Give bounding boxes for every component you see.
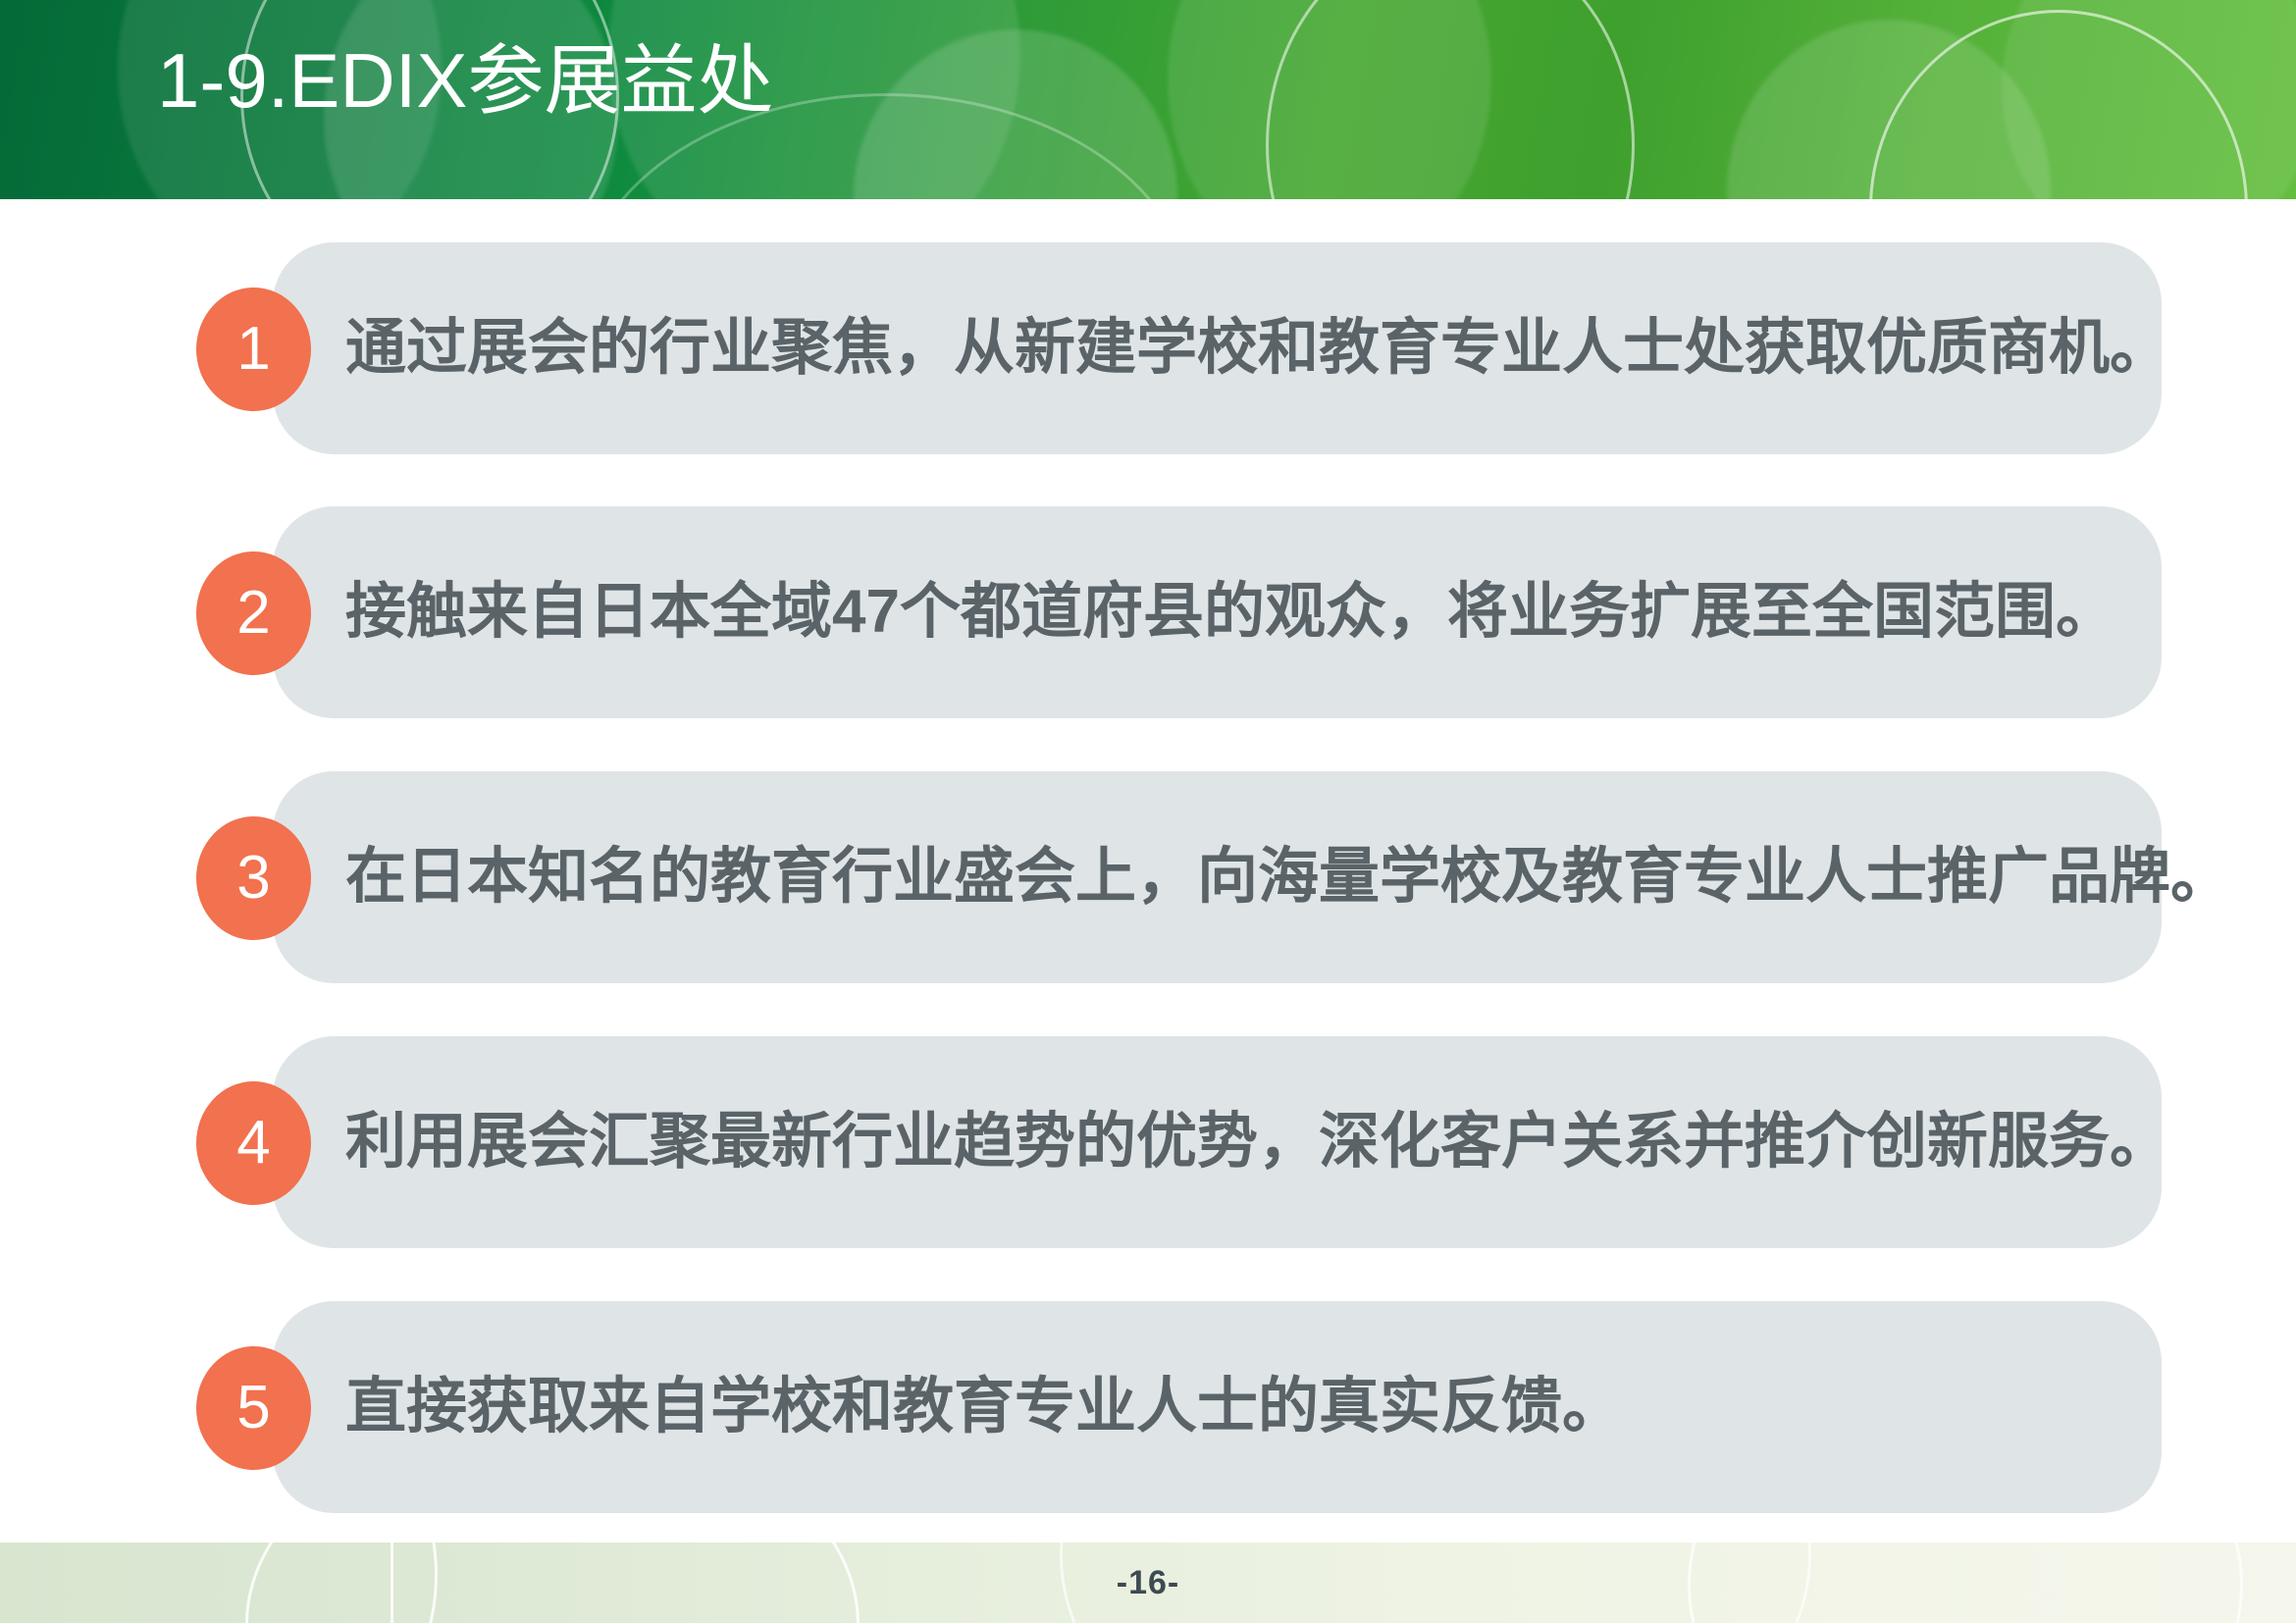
benefit-item: 3 在日本知名的教育行业盛会上，向海量学校及教育专业人士推广品牌。 (0, 771, 2296, 983)
benefit-item: 4 利用展会汇聚最新行业趋势的优势，深化客户关系并推介创新服务。 (0, 1036, 2296, 1248)
benefit-number-badge: 5 (196, 1346, 311, 1470)
slide-footer: -16- (0, 1543, 2296, 1623)
slide-body: 1 通过展会的行业聚焦，从新建学校和教育专业人士处获取优质商机。 2 接触来自日… (0, 199, 2296, 1543)
benefit-number-badge: 4 (196, 1081, 311, 1205)
benefit-item: 2 接触来自日本全域47个都道府县的观众，将业务扩展至全国范围。 (0, 506, 2296, 718)
header-decor-ring (1266, 0, 1635, 199)
benefit-text: 直接获取来自学校和教育专业人士的真实反馈。 (345, 1301, 2112, 1513)
benefit-text: 接触来自日本全域47个都道府县的观众，将业务扩展至全国范围。 (345, 506, 2112, 718)
benefit-item: 1 通过展会的行业聚焦，从新建学校和教育专业人士处获取优质商机。 (0, 242, 2296, 454)
benefit-number-badge: 1 (196, 288, 311, 411)
benefit-item: 5 直接获取来自学校和教育专业人士的真实反馈。 (0, 1301, 2296, 1513)
page-number: -16- (0, 1543, 2296, 1623)
slide-title: 1-9.EDIX参展益处 (157, 35, 773, 126)
benefit-text: 利用展会汇聚最新行业趋势的优势，深化客户关系并推介创新服务。 (345, 1036, 2112, 1248)
benefit-text: 在日本知名的教育行业盛会上，向海量学校及教育专业人士推广品牌。 (345, 771, 2112, 983)
benefit-text: 通过展会的行业聚焦，从新建学校和教育专业人士处获取优质商机。 (345, 242, 2112, 454)
benefit-number-badge: 3 (196, 816, 311, 940)
benefit-number-badge: 2 (196, 551, 311, 675)
slide-header: 1-9.EDIX参展益处 (0, 0, 2296, 199)
